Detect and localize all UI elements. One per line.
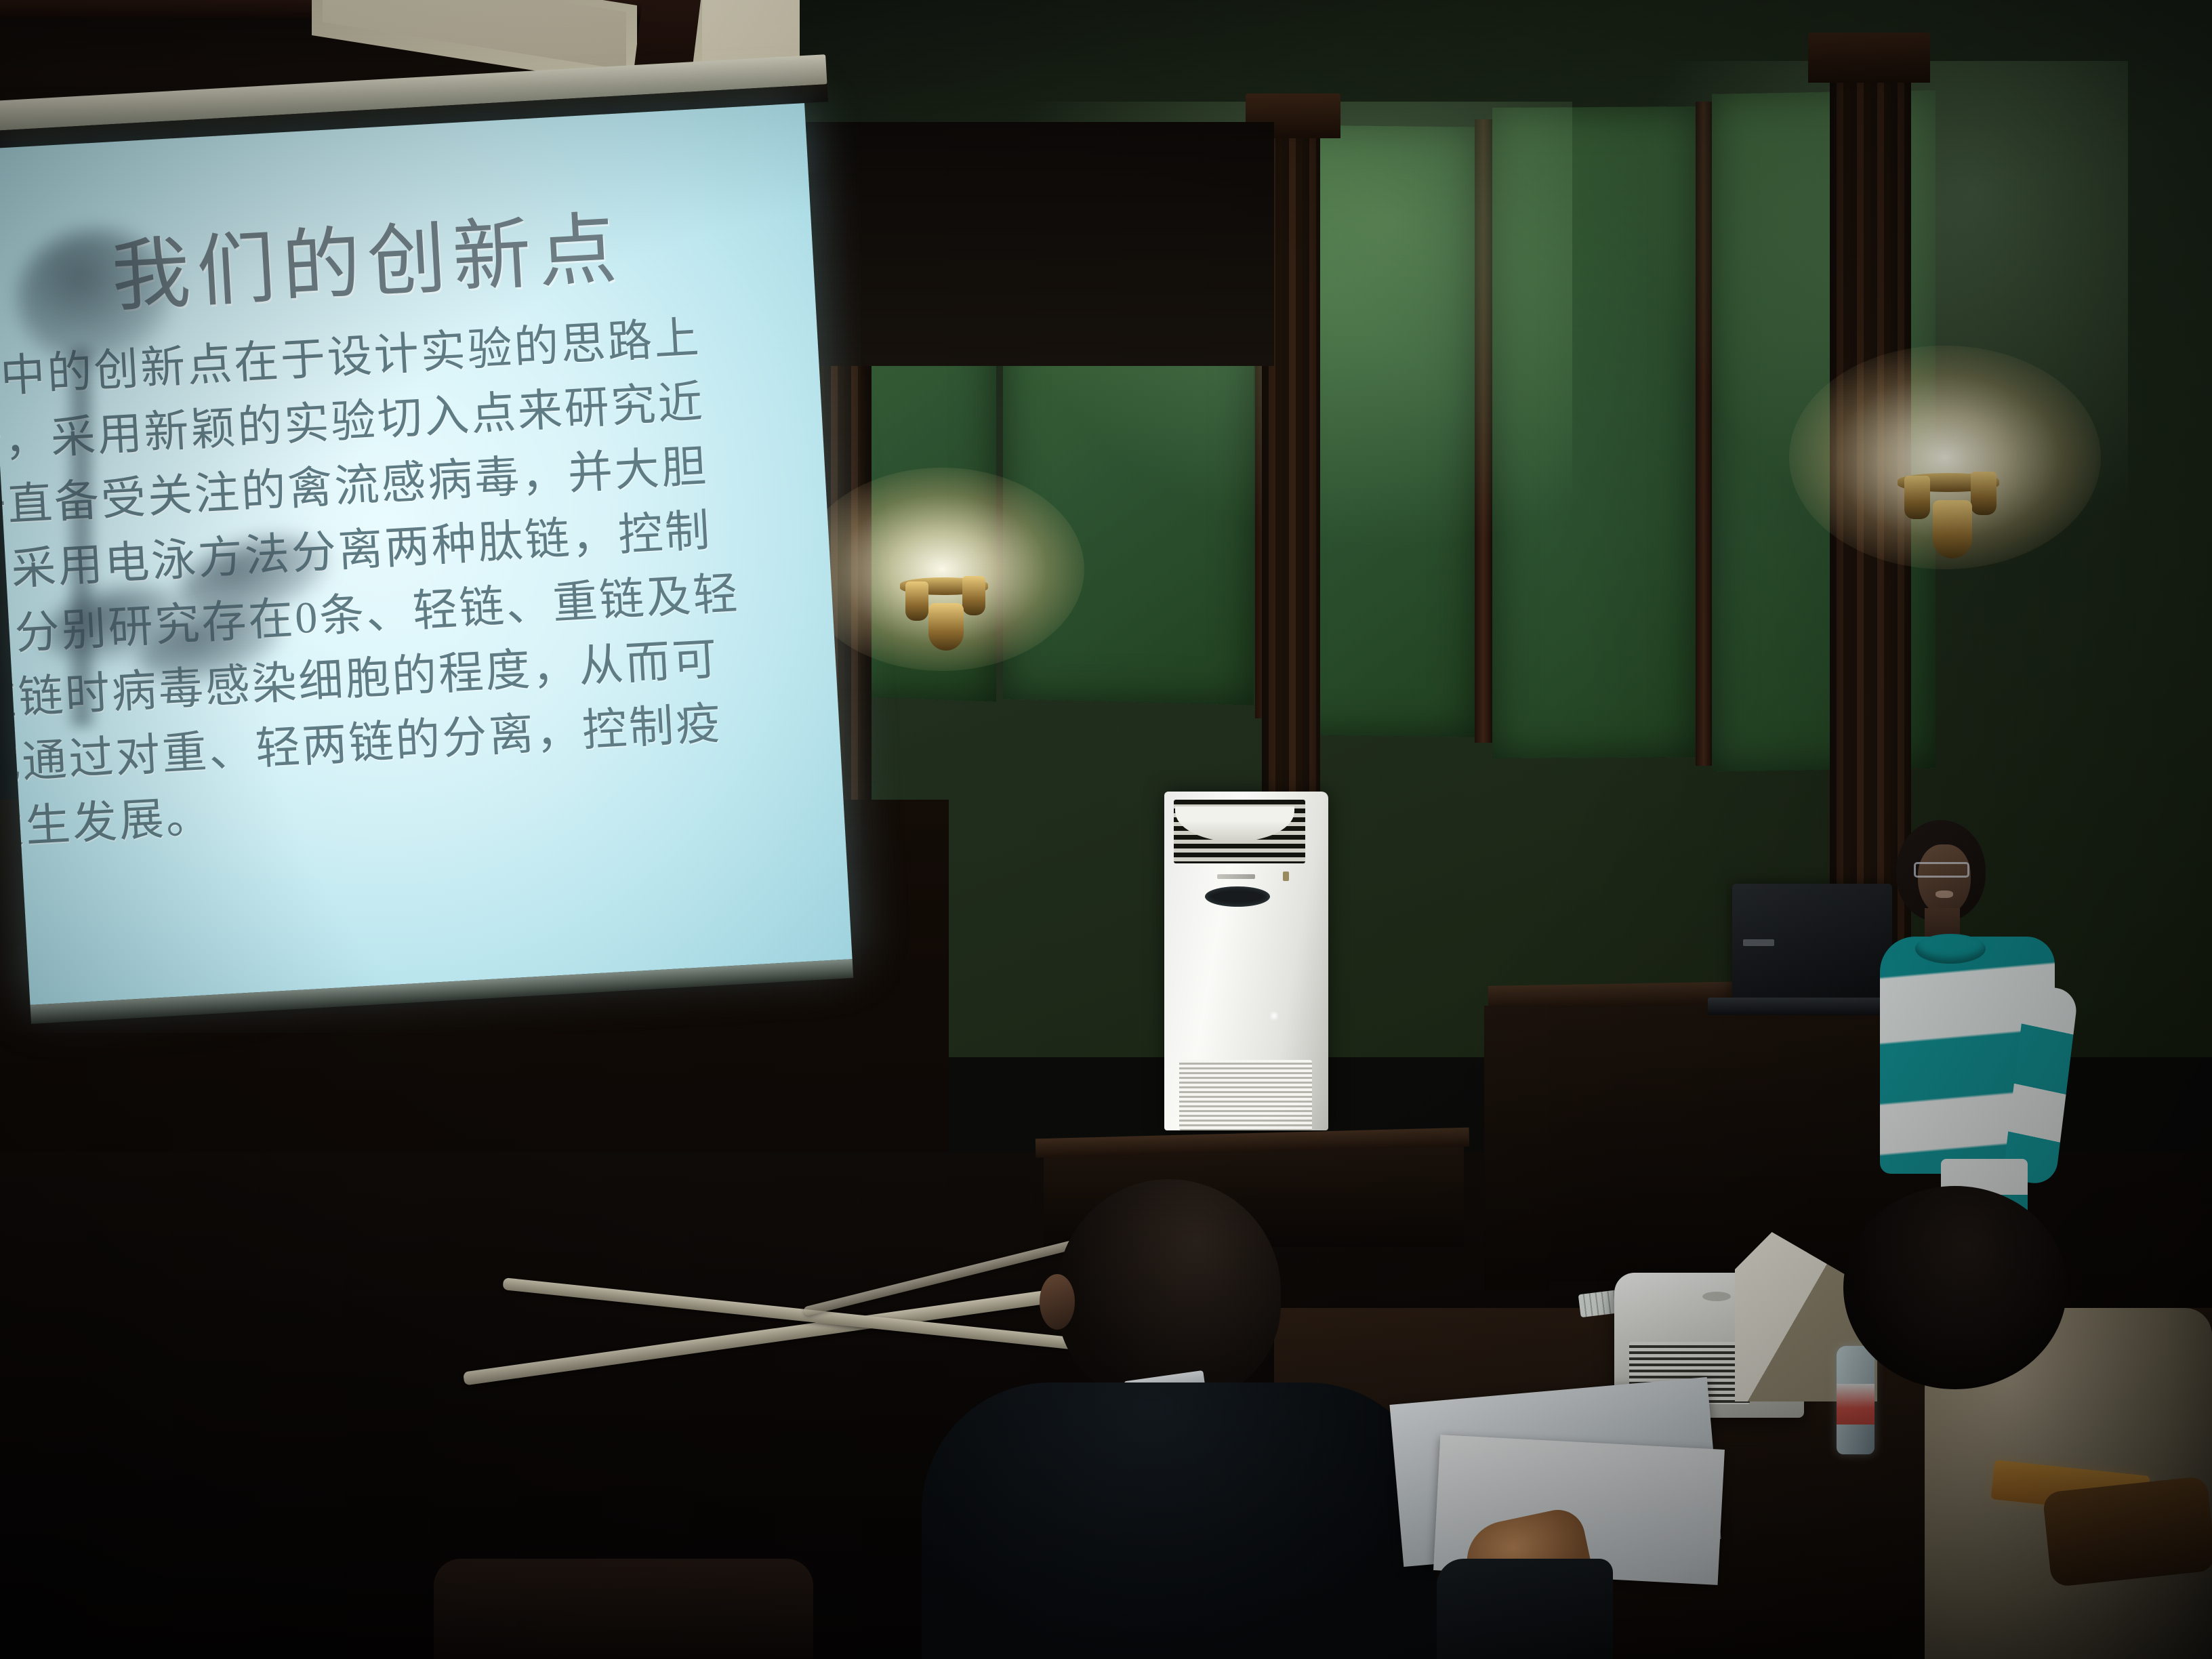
shadow-stalk xyxy=(66,348,97,727)
presenter-mouth xyxy=(1935,890,1953,898)
listener-ear xyxy=(1040,1274,1075,1330)
suit-sleeve xyxy=(1437,1559,1613,1659)
projection-screen-surface: 我们的创新点 实验中的创新点在于设计实验的思路上 创新，采用新颖的实验切入点来研… xyxy=(0,103,853,1005)
ac-highlight xyxy=(1270,1010,1278,1022)
ac-control-knob[interactable] xyxy=(1283,872,1289,881)
chair-back-foreground xyxy=(434,1559,813,1659)
seated-listener-front xyxy=(922,1179,1437,1659)
ac-brand-logo xyxy=(1217,874,1255,879)
slide-body: 实验中的创新点在于设计实验的思路上 创新，采用新颖的实验切入点来研究近 来一直备… xyxy=(0,300,834,864)
upper-wall-shadow xyxy=(800,122,1274,366)
wooden-chair-right xyxy=(2042,1476,2212,1588)
podium-rail xyxy=(1484,1006,1549,1290)
pilaster-capital-right xyxy=(1808,33,1930,83)
air-conditioner-unit xyxy=(1164,792,1328,1130)
presenter-face xyxy=(1918,844,1971,915)
ac-bottom-intake-grille xyxy=(1179,1060,1312,1130)
glasses-icon xyxy=(1914,862,1969,878)
laptop[interactable] xyxy=(1732,884,1892,1003)
bottle-label xyxy=(1837,1384,1875,1425)
ac-status-display xyxy=(1205,886,1270,907)
laptop-logo xyxy=(1743,939,1774,946)
projection-screen-assembly: 我们的创新点 实验中的创新点在于设计实验的思路上 创新，采用新颖的实验切入点来研… xyxy=(0,55,873,1069)
photo-scene: 我们的创新点 实验中的创新点在于设计实验的思路上 创新，采用新颖的实验切入点来研… xyxy=(0,0,2212,1659)
slide-title: 我们的创新点 xyxy=(108,182,669,327)
projector-lens xyxy=(1702,1292,1731,1301)
water-bottle xyxy=(1837,1346,1875,1454)
listener-right-head xyxy=(1843,1186,2067,1389)
listener-head xyxy=(1057,1179,1281,1403)
listener-suit-shoulders xyxy=(922,1382,1437,1659)
sweater-collar xyxy=(1915,934,1986,964)
